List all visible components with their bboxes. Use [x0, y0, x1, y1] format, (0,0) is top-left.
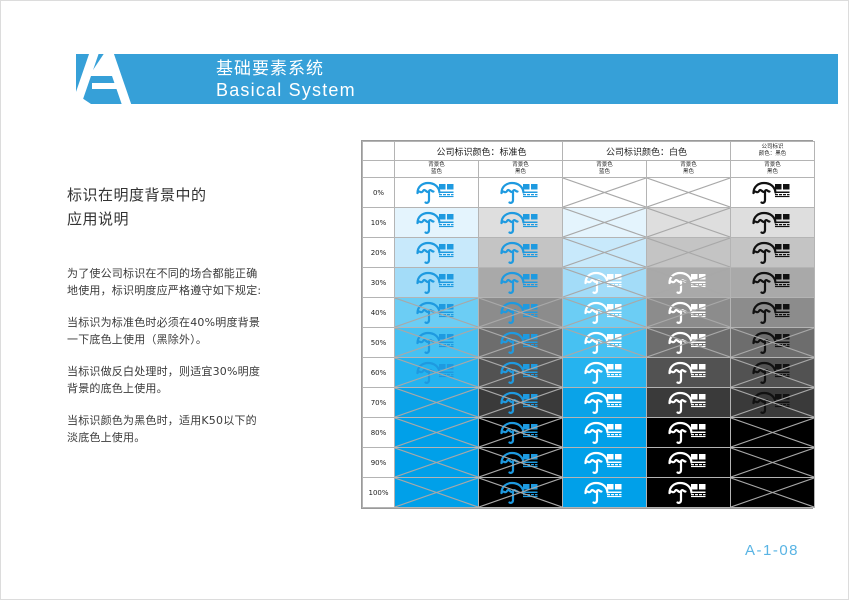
body-paragraph-3-line-1: 淡底色上使用。: [67, 429, 297, 446]
matrix-cell-std-on-blue-0pct: [395, 178, 479, 208]
matrix-row: 40%: [363, 298, 815, 328]
matrix-cell-std-on-black-10pct: [479, 208, 563, 238]
matrix-cell-std-on-black-50pct: [479, 328, 563, 358]
matrix-row-label-60pct: 60%: [363, 358, 395, 388]
matrix-group-header-0: 公司标识颜色：标准色: [395, 142, 563, 161]
company-logo-icon: [414, 271, 460, 295]
matrix-group-header-2: 公司标识颜色：黑色: [731, 142, 815, 161]
company-logo-icon: [498, 241, 544, 265]
company-logo-icon: [582, 481, 628, 505]
matrix-row: 100%: [363, 478, 815, 508]
background-swatch: [647, 238, 730, 267]
background-swatch: [395, 418, 478, 447]
matrix-cell-black-on-black-100pct: [731, 478, 815, 508]
background-swatch: [563, 238, 646, 267]
matrix-cell-black-on-black-50pct: [731, 328, 815, 358]
matrix-cell-white-on-blue-80pct: [563, 418, 647, 448]
matrix-cell-white-on-black-70pct: [647, 388, 731, 418]
background-swatch: [395, 478, 478, 507]
matrix-corner-cell: [363, 142, 395, 161]
background-swatch: [731, 478, 814, 507]
company-logo-icon: [498, 301, 544, 325]
header-title-english: Basical System: [216, 80, 356, 101]
company-logo-icon: [582, 271, 628, 295]
brightness-matrix-table: 公司标识颜色：标准色公司标识颜色：白色公司标识颜色：黑色 背景色蓝色背景色黑色背…: [361, 140, 813, 509]
company-logo-icon: [750, 211, 796, 235]
matrix-cell-std-on-black-90pct: [479, 448, 563, 478]
matrix-sub-header-row: 背景色蓝色背景色黑色背景色蓝色背景色黑色背景色黑色: [363, 161, 815, 178]
matrix-row: 70%: [363, 388, 815, 418]
matrix-cell-white-on-black-20pct: [647, 238, 731, 268]
body-paragraph-2: 当标识做反白处理时，则适宜30%明度背景的底色上使用。: [67, 363, 297, 397]
matrix-cell-white-on-blue-30pct: [563, 268, 647, 298]
company-logo-icon: [498, 211, 544, 235]
matrix-column-header-white-on-black: 背景色黑色: [647, 161, 731, 178]
matrix-cell-std-on-blue-60pct: [395, 358, 479, 388]
matrix-row-label-50pct: 50%: [363, 328, 395, 358]
matrix-cell-black-on-black-40pct: [731, 298, 815, 328]
matrix-cell-std-on-black-60pct: [479, 358, 563, 388]
matrix-column-header-line2: 黑色: [647, 169, 730, 176]
matrix-column-header-std-on-blue: 背景色蓝色: [395, 161, 479, 178]
matrix-cell-std-on-blue-70pct: [395, 388, 479, 418]
body-paragraph-2-line-0: 当标识做反白处理时，则适宜30%明度: [67, 363, 297, 380]
background-swatch: [647, 178, 730, 207]
matrix-group-header-row: 公司标识颜色：标准色公司标识颜色：白色公司标识颜色：黑色: [363, 142, 815, 161]
matrix-cell-black-on-black-70pct: [731, 388, 815, 418]
matrix-row: 30%: [363, 268, 815, 298]
company-logo-icon: [666, 421, 712, 445]
matrix-cell-white-on-black-50pct: [647, 328, 731, 358]
matrix-cell-white-on-blue-60pct: [563, 358, 647, 388]
matrix-cell-white-on-blue-10pct: [563, 208, 647, 238]
company-logo-icon: [666, 301, 712, 325]
body-paragraph-1-line-1: 一下底色上使用（黑除外）。: [67, 331, 297, 348]
matrix-row-label-0pct: 0%: [363, 178, 395, 208]
matrix-cell-white-on-blue-40pct: [563, 298, 647, 328]
matrix-row-label-70pct: 70%: [363, 388, 395, 418]
company-logo-icon: [750, 301, 796, 325]
matrix-cell-std-on-blue-80pct: [395, 418, 479, 448]
company-logo-icon: [750, 391, 796, 415]
matrix-cell-white-on-blue-50pct: [563, 328, 647, 358]
matrix-row: 10%: [363, 208, 815, 238]
matrix-cell-white-on-black-60pct: [647, 358, 731, 388]
company-logo-icon: [666, 451, 712, 475]
company-logo-icon: [498, 271, 544, 295]
matrix-cell-black-on-black-90pct: [731, 448, 815, 478]
company-logo-icon: [750, 361, 796, 385]
section-heading-line-1: 应用说明: [67, 207, 297, 231]
company-logo-icon: [498, 361, 544, 385]
body-paragraph-1: 当标识为标准色时必须在40%明度背景一下底色上使用（黑除外）。: [67, 314, 297, 348]
matrix-cell-std-on-blue-100pct: [395, 478, 479, 508]
company-logo-icon: [582, 391, 628, 415]
matrix-body: 0%10%20%30%40%50%60%70%80%90%100%: [363, 178, 815, 508]
matrix-group-header-1: 公司标识颜色：白色: [563, 142, 731, 161]
company-logo-icon: [582, 301, 628, 325]
matrix-column-header-line2: 黑色: [479, 169, 562, 176]
matrix-column-header-black-on-black: 背景色黑色: [731, 161, 815, 178]
matrix-subheader-corner-cell: [363, 161, 395, 178]
letter-a-logo-icon: [76, 54, 164, 104]
matrix-cell-black-on-black-30pct: [731, 268, 815, 298]
matrix-cell-white-on-black-80pct: [647, 418, 731, 448]
matrix-row: 90%: [363, 448, 815, 478]
body-paragraph-2-line-1: 背景的底色上使用。: [67, 380, 297, 397]
matrix-column-header-white-on-blue: 背景色蓝色: [563, 161, 647, 178]
matrix-cell-white-on-blue-0pct: [563, 178, 647, 208]
matrix-cell-white-on-black-90pct: [647, 448, 731, 478]
section-heading-line-0: 标识在明度背景中的: [67, 183, 297, 207]
matrix-column-header-line1: 背景色: [563, 162, 646, 169]
page-header: 基础要素系统 Basical System: [76, 54, 838, 104]
matrix-cell-black-on-black-10pct: [731, 208, 815, 238]
company-logo-icon: [666, 361, 712, 385]
matrix-row: 20%: [363, 238, 815, 268]
matrix-row: 0%: [363, 178, 815, 208]
matrix-cell-std-on-black-30pct: [479, 268, 563, 298]
background-swatch: [731, 418, 814, 447]
matrix-cell-std-on-blue-40pct: [395, 298, 479, 328]
section-heading: 标识在明度背景中的应用说明: [67, 183, 297, 231]
matrix-row-label-20pct: 20%: [363, 238, 395, 268]
matrix-cell-white-on-black-30pct: [647, 268, 731, 298]
company-logo-icon: [666, 481, 712, 505]
background-swatch: [563, 208, 646, 237]
background-swatch: [395, 388, 478, 417]
matrix-cell-white-on-black-10pct: [647, 208, 731, 238]
background-swatch: [395, 448, 478, 477]
company-logo-icon: [414, 361, 460, 385]
matrix-column-header-line1: 背景色: [395, 162, 478, 169]
matrix-cell-std-on-blue-30pct: [395, 268, 479, 298]
matrix-cell-std-on-blue-90pct: [395, 448, 479, 478]
company-logo-icon: [414, 331, 460, 355]
matrix-cell-std-on-blue-20pct: [395, 238, 479, 268]
background-swatch: [731, 448, 814, 477]
matrix-cell-std-on-black-20pct: [479, 238, 563, 268]
company-logo-icon: [414, 181, 460, 205]
matrix-column-header-line2: 蓝色: [395, 169, 478, 176]
matrix-cell-black-on-black-80pct: [731, 418, 815, 448]
matrix-cell-std-on-black-100pct: [479, 478, 563, 508]
matrix-cell-white-on-black-100pct: [647, 478, 731, 508]
matrix-column-header-line2: 黑色: [731, 169, 814, 176]
company-logo-icon: [750, 241, 796, 265]
body-paragraph-0-line-0: 为了使公司标识在不同的场合都能正确: [67, 265, 297, 282]
matrix-column-header-line2: 蓝色: [563, 169, 646, 176]
matrix-column-header-line1: 背景色: [731, 162, 814, 169]
body-paragraph-3-line-0: 当标识颜色为黑色时，适用K50以下的: [67, 412, 297, 429]
body-paragraph-1-line-0: 当标识为标准色时必须在40%明度背景: [67, 314, 297, 331]
company-logo-icon: [750, 181, 796, 205]
matrix-group-header-2-line: 颜色：黑色: [731, 151, 814, 158]
section-body-copy: 为了使公司标识在不同的场合都能正确地使用，标识明度应严格遵守如下规定:当标识为标…: [67, 265, 297, 446]
body-paragraph-0-line-1: 地使用，标识明度应严格遵守如下规定:: [67, 282, 297, 299]
matrix-grid: 公司标识颜色：标准色公司标识颜色：白色公司标识颜色：黑色 背景色蓝色背景色黑色背…: [362, 141, 815, 508]
company-logo-icon: [666, 271, 712, 295]
body-paragraph-3: 当标识颜色为黑色时，适用K50以下的淡底色上使用。: [67, 412, 297, 446]
background-swatch: [563, 178, 646, 207]
page-number: A-1-08: [745, 542, 799, 559]
matrix-cell-std-on-black-40pct: [479, 298, 563, 328]
header-text-block: 基础要素系统 Basical System: [216, 59, 356, 101]
header-blue-band: [76, 54, 838, 104]
matrix-cell-black-on-black-20pct: [731, 238, 815, 268]
matrix-group-header-2-line: 公司标识: [731, 144, 814, 151]
matrix-row-label-30pct: 30%: [363, 268, 395, 298]
matrix-row-label-90pct: 90%: [363, 448, 395, 478]
company-logo-icon: [498, 481, 544, 505]
company-logo-icon: [582, 331, 628, 355]
matrix-head: 公司标识颜色：标准色公司标识颜色：白色公司标识颜色：黑色 背景色蓝色背景色黑色背…: [363, 142, 815, 178]
matrix-cell-std-on-blue-10pct: [395, 208, 479, 238]
matrix-cell-white-on-black-40pct: [647, 298, 731, 328]
matrix-row-label-100pct: 100%: [363, 478, 395, 508]
company-logo-icon: [750, 271, 796, 295]
matrix-cell-std-on-black-0pct: [479, 178, 563, 208]
company-logo-icon: [666, 331, 712, 355]
matrix-row: 50%: [363, 328, 815, 358]
matrix-cell-std-on-blue-50pct: [395, 328, 479, 358]
matrix-row: 80%: [363, 418, 815, 448]
company-logo-icon: [498, 331, 544, 355]
company-logo-icon: [666, 391, 712, 415]
matrix-row: 60%: [363, 358, 815, 388]
matrix-column-header-std-on-black: 背景色黑色: [479, 161, 563, 178]
matrix-cell-white-on-blue-20pct: [563, 238, 647, 268]
matrix-column-header-line1: 背景色: [479, 162, 562, 169]
company-logo-icon: [414, 211, 460, 235]
matrix-cell-std-on-black-70pct: [479, 388, 563, 418]
company-logo-icon: [582, 451, 628, 475]
company-logo-icon: [498, 181, 544, 205]
matrix-cell-white-on-blue-70pct: [563, 388, 647, 418]
matrix-row-label-80pct: 80%: [363, 418, 395, 448]
company-logo-icon: [498, 421, 544, 445]
matrix-cell-std-on-black-80pct: [479, 418, 563, 448]
company-logo-icon: [750, 331, 796, 355]
matrix-cell-white-on-black-0pct: [647, 178, 731, 208]
company-logo-icon: [498, 391, 544, 415]
matrix-cell-white-on-blue-90pct: [563, 448, 647, 478]
matrix-cell-white-on-blue-100pct: [563, 478, 647, 508]
company-logo-icon: [414, 241, 460, 265]
header-title-chinese: 基础要素系统: [216, 59, 356, 80]
page-canvas: 基础要素系统 Basical System 标识在明度背景中的应用说明 为了使公…: [0, 0, 849, 600]
company-logo-icon: [498, 451, 544, 475]
matrix-row-label-40pct: 40%: [363, 298, 395, 328]
company-logo-icon: [582, 421, 628, 445]
matrix-column-header-line1: 背景色: [647, 162, 730, 169]
matrix-cell-black-on-black-0pct: [731, 178, 815, 208]
company-logo-icon: [582, 361, 628, 385]
matrix-row-label-10pct: 10%: [363, 208, 395, 238]
body-paragraph-0: 为了使公司标识在不同的场合都能正确地使用，标识明度应严格遵守如下规定:: [67, 265, 297, 299]
company-logo-icon: [414, 301, 460, 325]
matrix-cell-black-on-black-60pct: [731, 358, 815, 388]
left-text-column: 标识在明度背景中的应用说明 为了使公司标识在不同的场合都能正确地使用，标识明度应…: [67, 183, 297, 461]
background-swatch: [647, 208, 730, 237]
